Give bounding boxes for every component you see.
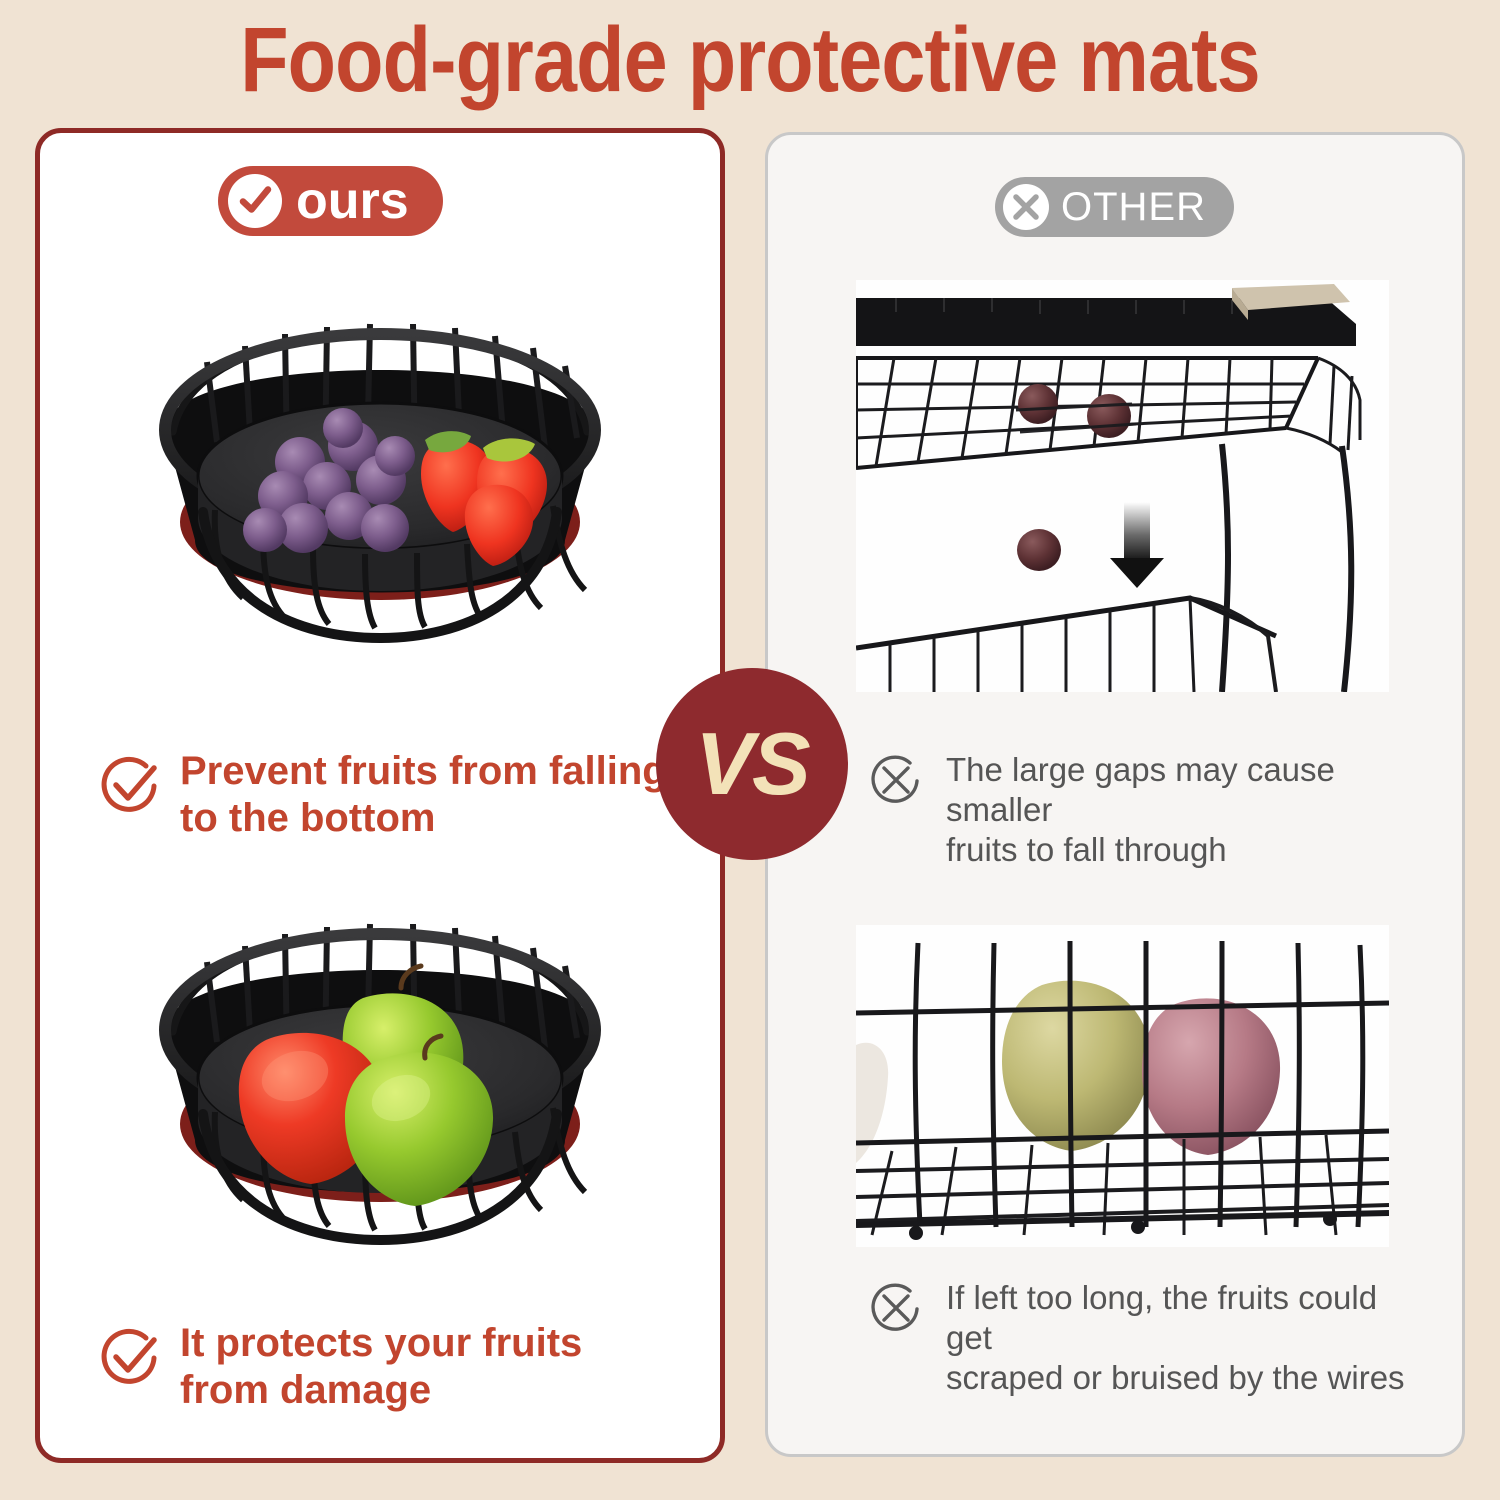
vs-badge: VS	[656, 668, 848, 860]
check-circle-icon	[98, 1324, 162, 1393]
other-image-1	[856, 280, 1389, 692]
ours-feature-1: Prevent fruits from falling to the botto…	[98, 748, 678, 842]
other-feature-2: If left too long, the fruits could get s…	[868, 1278, 1428, 1398]
infographic-page: Food-grade protective mats ours	[0, 0, 1500, 1500]
page-title: Food-grade protective mats	[105, 8, 1395, 112]
other-image-2	[856, 925, 1389, 1247]
x-circle-icon	[868, 1280, 924, 1341]
other-badge: OTHER	[995, 177, 1234, 237]
other-feature-1-text: The large gaps may cause smaller fruits …	[946, 750, 1428, 870]
other-feature-1: The large gaps may cause smaller fruits …	[868, 750, 1428, 870]
check-circle-icon	[98, 752, 162, 821]
ours-feature-2-text: It protects your fruits from damage	[180, 1320, 582, 1414]
other-badge-label: OTHER	[1061, 187, 1206, 227]
ours-feature-1-text: Prevent fruits from falling to the botto…	[180, 748, 667, 842]
vs-label: VS	[695, 720, 808, 808]
ours-badge-label: ours	[296, 175, 409, 227]
x-circle-icon	[868, 752, 924, 813]
ours-image-1	[95, 290, 665, 690]
check-circle-icon	[228, 174, 282, 228]
other-feature-2-text: If left too long, the fruits could get s…	[946, 1278, 1428, 1398]
x-circle-icon	[1003, 184, 1049, 230]
ours-image-2	[95, 880, 665, 1290]
ours-badge: ours	[218, 166, 443, 236]
ours-feature-2: It protects your fruits from damage	[98, 1320, 678, 1414]
